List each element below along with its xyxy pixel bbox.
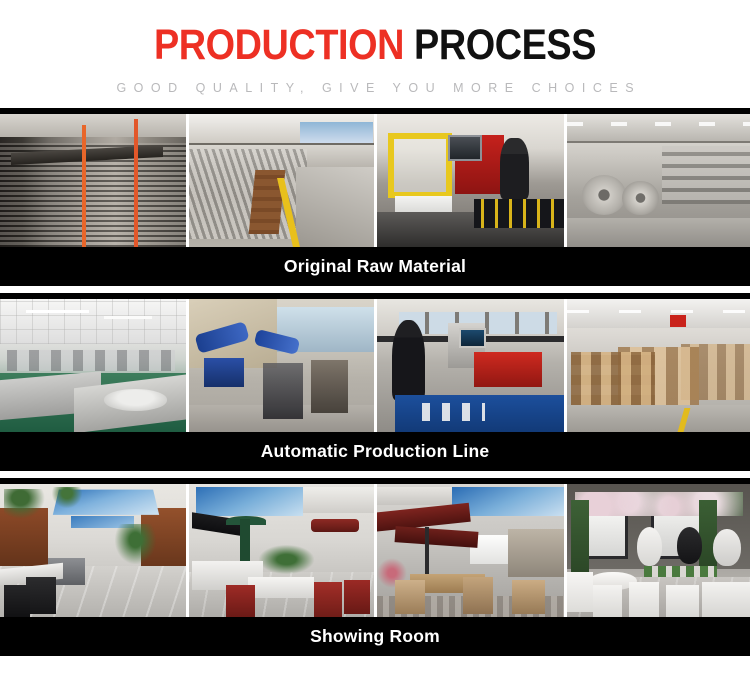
photo-strip bbox=[0, 114, 750, 247]
sky-region bbox=[0, 114, 186, 137]
aisle-floor bbox=[296, 167, 374, 247]
factory-ceiling bbox=[567, 114, 750, 143]
dark-chair-1 bbox=[26, 577, 56, 614]
hanging-egg-chair-white bbox=[637, 527, 663, 567]
plant-display bbox=[259, 545, 314, 574]
machine-row bbox=[7, 350, 174, 371]
white-chair-1 bbox=[567, 572, 593, 612]
page-title: PRODUCTION PROCESS bbox=[45, 24, 705, 67]
red-chair-3 bbox=[344, 580, 370, 615]
photo-strip bbox=[0, 484, 750, 617]
row-caption-band: Original Raw Material bbox=[0, 247, 750, 286]
left-ceiling bbox=[377, 487, 452, 506]
control-panel bbox=[448, 135, 482, 160]
worker-figure bbox=[500, 138, 528, 199]
photo-showroom-red-parasols bbox=[377, 484, 568, 617]
carton-stack-1 bbox=[571, 352, 655, 405]
sky-opening bbox=[300, 122, 374, 143]
green-parasol-pole bbox=[240, 519, 249, 564]
floral-garland-left bbox=[571, 500, 589, 577]
white-chair-5 bbox=[702, 582, 750, 617]
row-caption-band: Showing Room bbox=[0, 617, 750, 656]
ceiling-light-tube-2 bbox=[104, 316, 152, 319]
warehouse-ceiling bbox=[567, 299, 750, 328]
banner-header: PRODUCTION PROCESS GOOD QUALITY, GIVE YO… bbox=[0, 0, 750, 95]
floral-garland-top bbox=[575, 492, 743, 516]
page-subtitle: GOOD QUALITY, GIVE YOU MORE CHOICES bbox=[0, 81, 750, 95]
factory-floor bbox=[567, 218, 750, 247]
photo-showroom-red-chairs bbox=[189, 484, 377, 617]
red-wall-sign bbox=[670, 315, 686, 327]
process-row-automatic-production-line: Automatic Production Line bbox=[0, 293, 750, 471]
aluminium-coil-2 bbox=[622, 181, 659, 216]
floral-garland-right bbox=[699, 500, 717, 572]
cable-carrier-chain bbox=[474, 199, 564, 228]
row-caption-text: Showing Room bbox=[310, 626, 440, 647]
rack-post-right bbox=[134, 119, 138, 247]
hanging-egg-chair-black bbox=[677, 527, 703, 564]
rack-post-left bbox=[82, 125, 86, 247]
red-awning bbox=[311, 519, 359, 532]
hanging-plant-2 bbox=[52, 487, 82, 508]
wooden-chair-2 bbox=[463, 577, 493, 614]
white-chair-3 bbox=[629, 582, 658, 617]
wooden-chair-1 bbox=[395, 580, 425, 615]
process-row-original-raw-material: Original Raw Material bbox=[0, 108, 750, 286]
red-chair-1 bbox=[226, 585, 256, 617]
white-chair-4 bbox=[666, 585, 699, 617]
warehouse-floor bbox=[567, 405, 750, 432]
row-caption-text: Original Raw Material bbox=[284, 256, 466, 277]
parasol-pole bbox=[425, 527, 429, 580]
photo-line-robot-arms bbox=[189, 299, 377, 432]
ceiling-lights bbox=[567, 122, 750, 126]
process-row-showing-room: Showing Room bbox=[0, 478, 750, 656]
photo-raw-stacked-panels bbox=[0, 114, 189, 247]
aluminium-coil-1 bbox=[582, 175, 626, 215]
gazebo-tent bbox=[508, 529, 564, 577]
artificial-grass bbox=[644, 566, 717, 577]
white-dining-table bbox=[248, 577, 315, 598]
material-cart-2 bbox=[311, 360, 348, 413]
title-word-production: PRODUCTION bbox=[154, 21, 404, 69]
dark-chair-2 bbox=[4, 585, 30, 617]
title-word-process: PROCESS bbox=[414, 21, 596, 69]
red-parasol-2 bbox=[395, 526, 479, 548]
photo-showroom-egg-chairs bbox=[567, 484, 750, 617]
red-chair-2 bbox=[314, 582, 342, 617]
material-cart-1 bbox=[263, 363, 304, 419]
white-chair-2 bbox=[593, 585, 622, 617]
hanging-plant-1 bbox=[4, 489, 45, 518]
potted-plant bbox=[115, 524, 156, 564]
ceiling-light-tube-1 bbox=[26, 310, 89, 313]
photo-raw-cnc-machine bbox=[377, 114, 568, 247]
oval-tabletop bbox=[104, 389, 167, 410]
right-ceiling bbox=[303, 487, 373, 514]
photo-line-cutting-machine bbox=[377, 299, 568, 432]
operator-figure bbox=[392, 320, 426, 400]
window-left bbox=[585, 513, 628, 559]
ceiling-light-strip bbox=[567, 310, 750, 313]
row-caption-band: Automatic Production Line bbox=[0, 432, 750, 471]
yellow-machine-frame bbox=[388, 133, 453, 198]
sky-mural-ceiling bbox=[196, 487, 303, 516]
machine-label bbox=[422, 403, 486, 422]
process-rows: Original Raw Material bbox=[0, 108, 750, 656]
photo-line-workshop-green-floor bbox=[0, 299, 189, 432]
machine-screen bbox=[459, 328, 486, 348]
storage-rack bbox=[662, 146, 750, 205]
photo-line-warehouse-boxes bbox=[567, 299, 750, 432]
red-cutting-head bbox=[474, 352, 542, 387]
photo-raw-aluminium-coils bbox=[567, 114, 750, 247]
photo-raw-warehouse-aisle bbox=[189, 114, 377, 247]
photo-strip bbox=[0, 299, 750, 432]
suspended-ceiling bbox=[0, 299, 186, 344]
wooden-chair-3 bbox=[512, 580, 546, 615]
robot-base bbox=[204, 358, 245, 387]
hanging-egg-chair-grey bbox=[713, 529, 740, 566]
row-caption-text: Automatic Production Line bbox=[261, 441, 490, 462]
photo-showroom-sky-ceiling bbox=[0, 484, 189, 617]
